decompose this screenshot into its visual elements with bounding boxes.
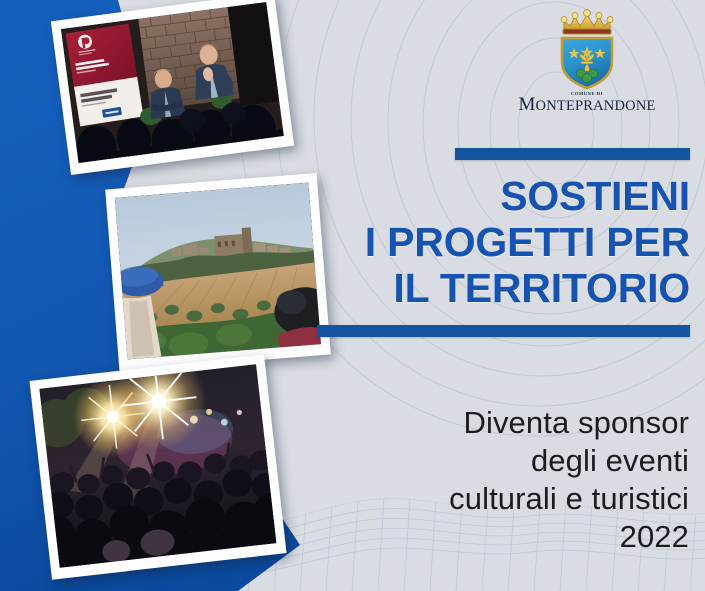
headline-rule-top [455, 148, 690, 160]
photo-festival-image [61, 2, 284, 163]
photo-concert-image [39, 364, 276, 568]
headline-rule-bottom [317, 325, 690, 337]
headline-line-2: I PROGETTI PER [317, 220, 690, 266]
subtitle-year: 2022 [449, 518, 689, 556]
subtitle-line-3: culturali e turistici [449, 480, 689, 518]
crest-name-initial: M [518, 94, 535, 115]
headline-line-1: SOSTIENI [317, 174, 690, 220]
subtitle-block: Diventa sponsor degli eventi culturali e… [449, 404, 689, 557]
photo-festival [51, 0, 294, 175]
headline-line-3: IL TERRITORIO [317, 266, 690, 312]
coat-of-arms-icon [544, 8, 630, 90]
headline-text: SOSTIENI I PROGETTI PER IL TERRITORIO [317, 174, 690, 312]
crest-name: MONTEPRANDONE [497, 95, 677, 114]
photo-concert [29, 354, 286, 579]
headline-block: SOSTIENI I PROGETTI PER IL TERRITORIO [317, 148, 690, 337]
poster-canvas: COMUNE DI MONTEPRANDONE SOSTIENI I PROGE… [0, 0, 705, 591]
subtitle-line-1: Diventa sponsor [449, 404, 689, 442]
municipal-crest-block: COMUNE DI MONTEPRANDONE [497, 8, 677, 114]
crest-name-rest: ONTEPRANDONE [536, 98, 656, 114]
subtitle-line-2: degli eventi [449, 442, 689, 480]
photo-landscape [105, 173, 331, 371]
photo-landscape-image [115, 183, 321, 360]
